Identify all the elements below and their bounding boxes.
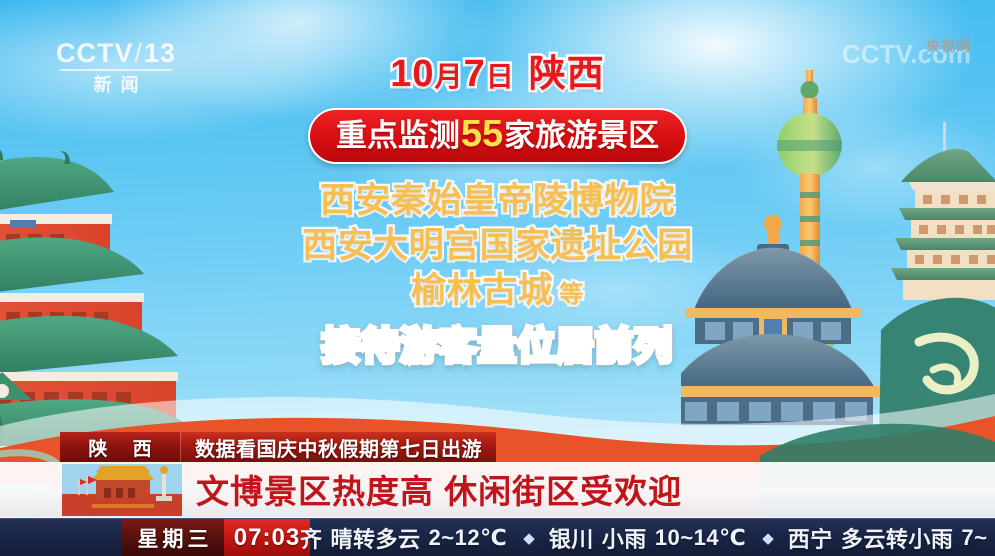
- date-day-number: 7: [464, 53, 486, 95]
- badge-suffix: 家旅游景区: [504, 118, 659, 153]
- lower-third-topic: 数据看国庆中秋假期第七日出游: [180, 432, 496, 462]
- ticker-clock-label: 07:03: [234, 524, 300, 552]
- ticker-city: 银川: [549, 522, 594, 554]
- lower-third: 陕 西 数据看国庆中秋假期第七日出游: [0, 432, 995, 518]
- date-month-unit: 月: [435, 61, 464, 92]
- ticker-weather: 晴转多云: [331, 522, 421, 554]
- badge-text: 重点监测55家旅游景区: [336, 116, 659, 154]
- ticker-temp: 7~: [961, 525, 987, 551]
- scenic-spot-item: 西安大明宫国家遗址公园: [0, 223, 995, 268]
- ticker-weather: 多云转小雨: [841, 522, 954, 554]
- province-name: 陕西: [529, 53, 605, 94]
- ticker-weather-item: 西宁多云转小雨7~: [788, 522, 988, 554]
- badge-prefix: 重点监测: [336, 118, 460, 153]
- lower-third-topic-label: 数据看国庆中秋假期第七日出游: [195, 433, 482, 462]
- ticker-city: 西宁: [788, 522, 833, 554]
- date-day-unit: 日: [486, 61, 515, 92]
- ticker-temp: 2~12℃: [429, 525, 508, 551]
- diamond-icon: ◆: [523, 529, 535, 547]
- scenic-spot-etc: 等: [559, 281, 584, 308]
- ticker-weekday: 星期三: [122, 519, 224, 556]
- lower-third-main: 文博景区热度高 休闲街区受欢迎: [0, 462, 995, 518]
- scenic-spot-item: 西安秦始皇帝陵博物院: [0, 178, 995, 223]
- headline-card: 10月7日陕西 重点监测55家旅游景区 西安秦始皇帝陵博物院 西安大明宫国家遗址…: [0, 52, 995, 371]
- lower-third-province-label: 陕 西: [78, 434, 161, 461]
- conclusion-text: 接待游客量位居前列: [322, 323, 673, 371]
- ticker-weather-item: 齐晴转多云2~12℃: [300, 522, 507, 554]
- ticker-weekday-label: 星期三: [134, 523, 213, 553]
- ticker-temp: 10~14℃: [655, 525, 746, 551]
- lower-third-headline: 文博景区热度高 休闲街区受欢迎: [196, 465, 682, 513]
- diamond-icon: ◆: [762, 529, 774, 547]
- weather-ticker: 星期三 07:03 齐晴转多云2~12℃ ◆ 银川小雨10~14℃ ◆ 西宁多云…: [0, 518, 995, 556]
- ticker-weather: 小雨: [602, 522, 647, 554]
- ticker-weather-item: 银川小雨10~14℃: [549, 522, 746, 554]
- scenic-spot-list: 西安秦始皇帝陵博物院 西安大明宫国家遗址公园 榆林古城等: [0, 178, 995, 317]
- ticker-city: 齐: [300, 522, 323, 554]
- lower-third-province: 陕 西: [60, 432, 180, 462]
- date-month-number: 10: [390, 53, 434, 95]
- broadcast-screen: CCTV/13 新闻 CCTV.com 央视网 10月7日陕西 重点监测55家旅…: [0, 0, 995, 556]
- ticker-items: 齐晴转多云2~12℃ ◆ 银川小雨10~14℃ ◆ 西宁多云转小雨7~: [300, 519, 995, 556]
- scenic-spot-item: 榆林古城等: [0, 268, 995, 317]
- date-province-line: 10月7日陕西: [390, 52, 604, 99]
- monitored-scenic-badge: 重点监测55家旅游景区: [308, 108, 687, 164]
- badge-count: 55: [461, 113, 503, 155]
- scenic-spot-name: 榆林古城: [411, 271, 553, 310]
- tiananmen-thumbnail: [62, 464, 182, 516]
- ticker-clock: 07:03: [224, 519, 310, 556]
- badge-wrap: 重点监测55家旅游景区: [0, 108, 995, 164]
- lower-third-topbar: 陕 西 数据看国庆中秋假期第七日出游: [60, 432, 496, 462]
